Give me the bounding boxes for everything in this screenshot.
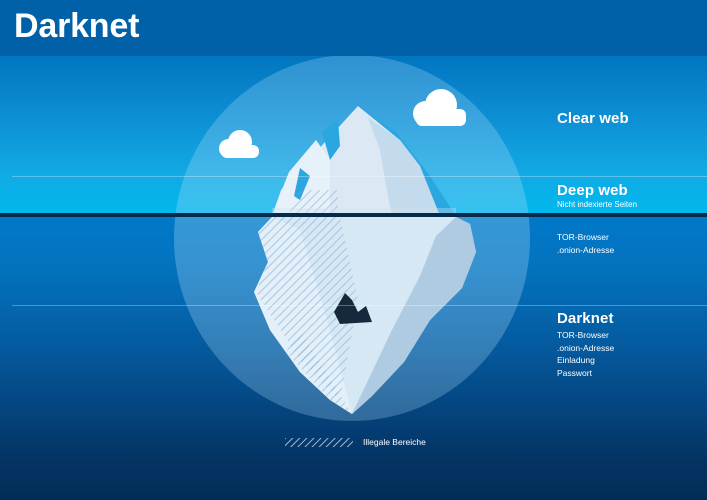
label-deep-web-subtitle: Nicht indexierte Seiten [557,199,637,211]
label-darknet-requirements: TOR-Browser .onion-Adresse Einladung Pas… [557,329,614,379]
iceberg-below-water [254,217,476,414]
label-deep-web: Deep web [557,182,628,199]
page-title: Darknet [14,7,139,46]
deep-web-item-tor-browser: TOR-Browser [557,231,614,244]
darknet-item-onion-address: .onion-Adresse [557,342,614,355]
divider-clear-web [12,176,707,177]
darknet-item-password: Passwort [557,367,614,380]
divider-darknet [12,305,707,306]
label-darknet: Darknet [557,310,614,327]
deep-web-item-onion-address: .onion-Adresse [557,244,614,257]
legend-label: Illegale Bereiche [363,437,426,447]
label-deep-web-requirements: TOR-Browser .onion-Adresse [557,231,614,256]
infographic-canvas: Darknet Clear web Deep web Nicht indexie… [0,0,707,500]
cloud-icon-large [413,89,469,126]
darknet-item-invitation: Einladung [557,354,614,367]
darknet-item-tor-browser: TOR-Browser [557,329,614,342]
legend-hatch-swatch [285,438,353,447]
waterline-divider [0,213,707,217]
cloud-icon-small [219,130,261,158]
legend: Illegale Bereiche [285,437,426,447]
label-clear-web: Clear web [557,110,629,127]
